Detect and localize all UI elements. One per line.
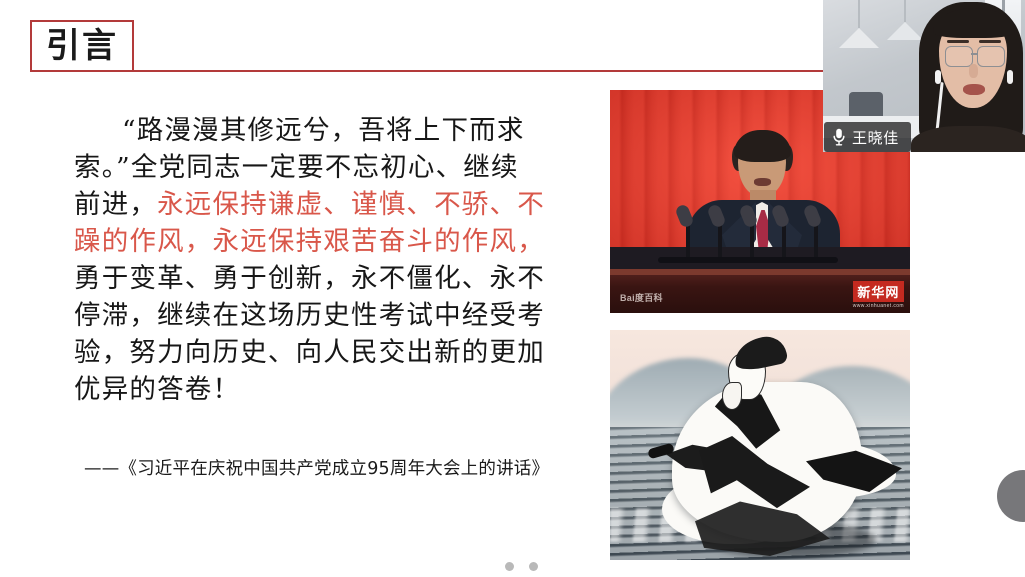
pagination-dots[interactable] [505,562,538,571]
video-background-chair [849,92,883,118]
microphone-mount-bar [658,257,838,263]
pagination-dot-2[interactable] [529,562,538,571]
title-underline-rule [134,70,824,72]
participant-mouth [963,84,985,95]
quote-text-block: “路漫漫其修远兮，吾将上下而求 索。”全党同志一定要不忘初心、继续 前进，永远保… [74,112,544,408]
participant-eyebrow-right [979,40,1001,43]
quote-line: 前进，永远保持谦虚、谨慎、不骄、不 [74,186,544,223]
pendant-lamp-cord [858,0,860,28]
video-participant-tile[interactable]: 王晓佳 [823,0,1025,152]
xinhua-watermark-url: www.xinhuanet.com [853,303,904,309]
participant-glasses-right-lens [977,46,1005,67]
microphone-stand [750,221,754,261]
xinhua-watermark: 新华网 www.xinhuanet.com [853,281,904,309]
participant-name-badge: 王晓佳 [824,122,911,152]
floating-round-button[interactable] [997,470,1025,522]
quote-line: 优异的答卷！ [74,371,544,408]
quote-line: 停滞，继续在这场历史性考试中经受考 [74,297,544,334]
xinhua-watermark-main: 新华网 [853,281,904,302]
presentation-slide: 引言 “路漫漫其修远兮，吾将上下而求 索。”全党同志一定要不忘初心、继续 前进，… [0,0,1025,577]
microphone-stand [814,221,818,261]
slide-title-box: 引言 [30,20,134,72]
participant-shoulders [911,126,1025,152]
podium-edge [610,269,910,275]
quote-line: 勇于变革、勇于创新，永不僵化、永不 [74,260,544,297]
pagination-dot-1[interactable] [505,562,514,571]
participant-earphone-right [1007,70,1013,84]
baidu-watermark: Bai度百科 [620,291,663,304]
pendant-lamp-cord [904,0,906,22]
figure-beard [722,382,742,410]
quote-segment-black: 前进， [74,189,157,220]
quote-line: 验，努力向历史、向人民交出新的更加 [74,334,544,371]
microphone-icon[interactable] [832,128,846,146]
quote-line: “路漫漫其修远兮，吾将上下而求 [74,112,544,149]
microphone-stand [782,221,786,261]
quote-line: 索。”全党同志一定要不忘初心、继续 [74,149,544,186]
page-title: 引言 [46,29,118,63]
microphone-stand [686,221,690,261]
participant-glasses-bridge [971,53,977,55]
participant-eyebrow-left [947,40,969,43]
participant-nose [969,64,978,78]
participant-name-label: 王晓佳 [852,127,899,148]
ink-painting-image [610,330,910,560]
quote-segment-highlight: 永远保持谦虚、谨慎、不骄、不 [157,189,545,220]
speaker-mouth [754,178,771,186]
microphone-stand [718,221,722,261]
participant-glasses-left-lens [945,46,973,67]
quote-line-highlight: 躁的作风，永远保持艰苦奋斗的作风， [74,223,544,260]
quote-citation: ——《习近平在庆祝中国共产党成立95周年大会上的讲话》 [84,455,554,480]
